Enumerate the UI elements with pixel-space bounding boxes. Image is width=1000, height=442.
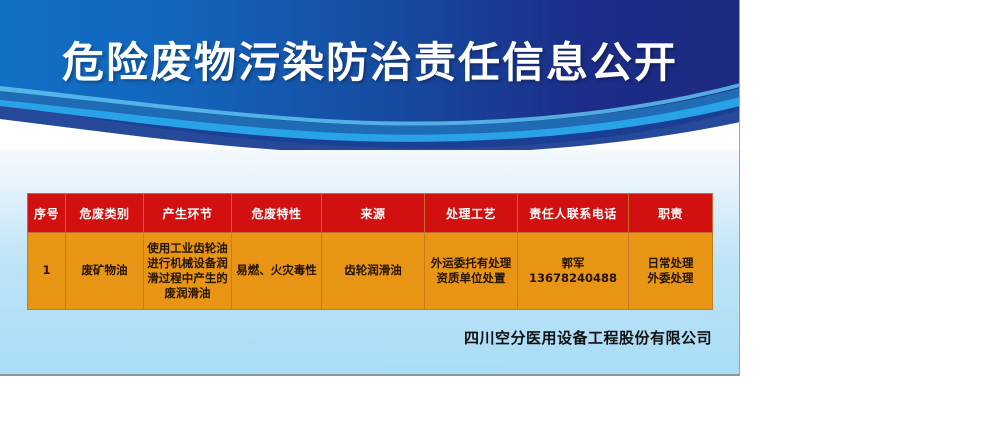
column-header-characteristics: 危废特性 — [232, 194, 322, 233]
cell-source: 齿轮润滑油 — [322, 233, 425, 310]
cell-responsible-person: 郭军 13678240488 — [518, 233, 629, 310]
company-name: 四川空分医用设备工程股份有限公司 — [0, 327, 712, 348]
column-header-duty: 职责 — [629, 194, 713, 233]
poster: 危险废物污染防治责任信息公开 序号 危废类别 产生环节 危废特性 来源 处理工艺… — [0, 0, 740, 376]
column-header-process: 处理工艺 — [425, 194, 518, 233]
header-banner: 危险废物污染防治责任信息公开 — [0, 0, 740, 150]
hazardous-waste-table-container: 序号 危废类别 产生环节 危废特性 来源 处理工艺 责任人联系电话 职责 1 废… — [27, 193, 712, 310]
cell-generation-stage: 使用工业齿轮油进行机械设备润滑过程中产生的废润滑油 — [144, 233, 232, 310]
cell-category: 废矿物油 — [66, 233, 144, 310]
column-header-category: 危废类别 — [66, 194, 144, 233]
cell-index: 1 — [28, 233, 66, 310]
column-header-contact: 责任人联系电话 — [518, 194, 629, 233]
table-header-row: 序号 危废类别 产生环节 危废特性 来源 处理工艺 责任人联系电话 职责 — [28, 194, 713, 233]
column-header-source: 来源 — [322, 194, 425, 233]
cell-process: 外运委托有处理资质单位处置 — [425, 233, 518, 310]
cell-duty: 日常处理 外委处理 — [629, 233, 713, 310]
cell-characteristics: 易燃、火灾毒性 — [232, 233, 322, 310]
column-header-generation: 产生环节 — [144, 194, 232, 233]
page-title: 危险废物污染防治责任信息公开 — [0, 0, 740, 118]
hazardous-waste-table: 序号 危废类别 产生环节 危废特性 来源 处理工艺 责任人联系电话 职责 1 废… — [27, 193, 713, 310]
table-row: 1 废矿物油 使用工业齿轮油进行机械设备润滑过程中产生的废润滑油 易燃、火灾毒性… — [28, 233, 713, 310]
column-header-index: 序号 — [28, 194, 66, 233]
